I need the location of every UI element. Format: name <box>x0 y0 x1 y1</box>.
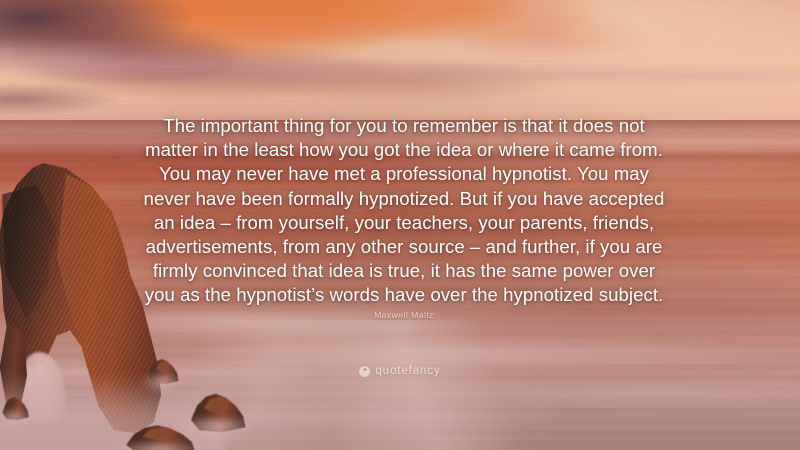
quote-poster: The important thing for you to remember … <box>0 0 800 450</box>
watermark-brand: quotefancy <box>375 365 440 377</box>
quote-mark-icon: ❝ <box>359 366 370 377</box>
watermark[interactable]: ❝ quotefancy <box>0 365 800 377</box>
quote-text: The important thing for you to remember … <box>138 114 670 308</box>
quote-block: The important thing for you to remember … <box>138 114 670 308</box>
quote-author: Maxwell Maltz <box>138 310 670 320</box>
